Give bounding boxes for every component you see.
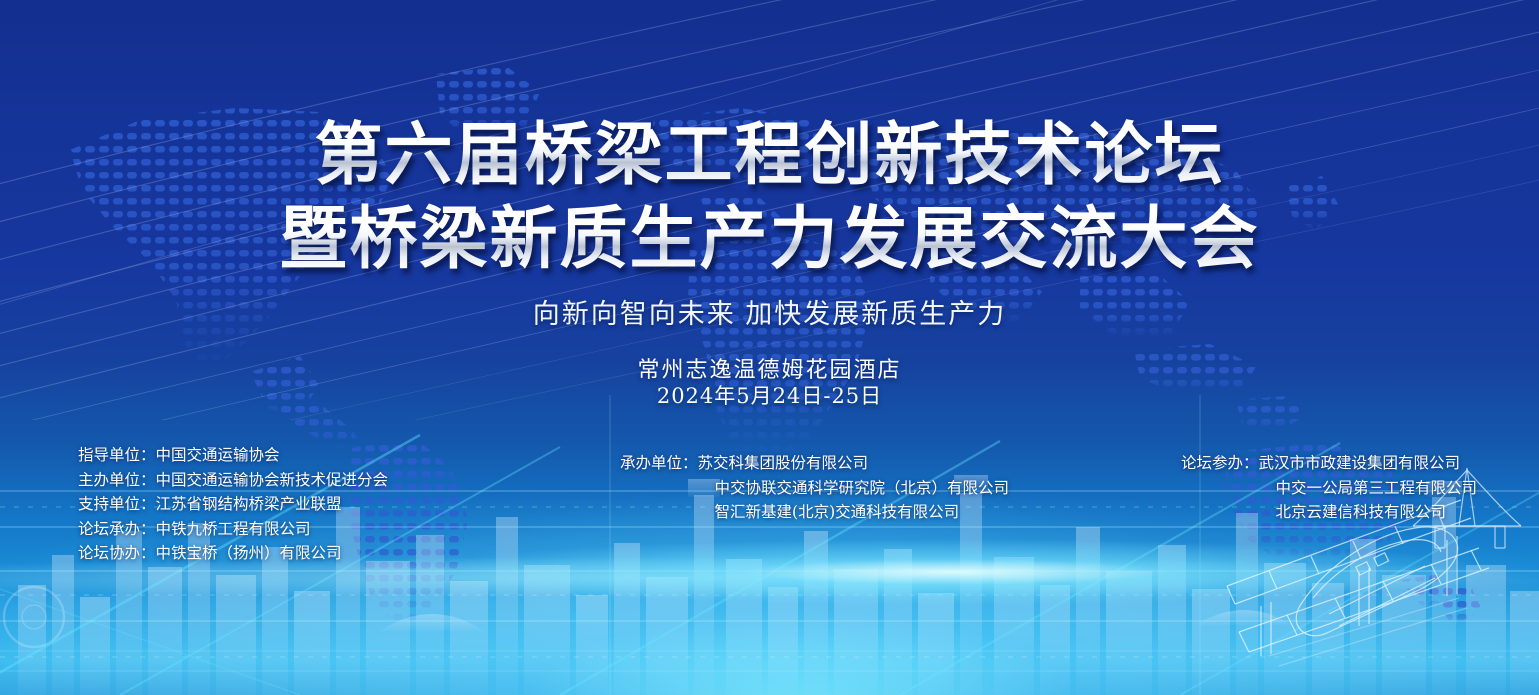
credit-row: 承办单位：苏交科集团股份有限公司 bbox=[620, 451, 1009, 476]
credit-value: 中交一公局第三工程有限公司 bbox=[1275, 479, 1477, 497]
credit-label: 承办单位： bbox=[620, 451, 698, 476]
credit-row: 支持单位：江苏省钢结构桥梁产业联盟 bbox=[78, 492, 388, 517]
credits-column-left: 指导单位：中国交通运输协会 主办单位：中国交通运输协会新技术促进分会 支持单位：… bbox=[78, 443, 388, 566]
credit-label: 论坛承办： bbox=[78, 517, 156, 542]
credits-column-right: 论坛参办：武汉市市政建设集团有限公司 中交一公局第三工程有限公司 北京云建信科技… bbox=[1181, 451, 1477, 525]
credit-label: 论坛协办： bbox=[78, 541, 156, 566]
credit-row: 北京云建信科技有限公司 bbox=[1181, 500, 1477, 525]
credit-value: 中交协联交通科学研究院（北京）有限公司 bbox=[715, 479, 1010, 497]
title-line-1: 第六届桥梁工程创新技术论坛 bbox=[0, 114, 1539, 198]
credit-value: 中铁九桥工程有限公司 bbox=[156, 520, 311, 538]
credit-row: 中交协联交通科学研究院（北京）有限公司 bbox=[620, 476, 1009, 501]
credit-row: 论坛协办：中铁宝桥（扬州）有限公司 bbox=[78, 541, 388, 566]
credit-row: 指导单位：中国交通运输协会 bbox=[78, 443, 388, 468]
credit-row: 主办单位：中国交通运输协会新技术促进分会 bbox=[78, 468, 388, 493]
credit-value: 智汇新基建(北京)交通科技有限公司 bbox=[715, 503, 960, 521]
credit-row: 论坛参办：武汉市市政建设集团有限公司 bbox=[1181, 451, 1477, 476]
credit-row: 论坛承办：中铁九桥工程有限公司 bbox=[78, 517, 388, 542]
credit-label: 指导单位： bbox=[78, 443, 156, 468]
credit-value: 武汉市市政建设集团有限公司 bbox=[1258, 454, 1460, 472]
date: 2024年5月24日-25日 bbox=[0, 380, 1539, 410]
credits: 指导单位：中国交通运输协会 主办单位：中国交通运输协会新技术促进分会 支持单位：… bbox=[0, 443, 1539, 563]
title-line-2: 暨桥梁新质生产力发展交流大会 bbox=[0, 198, 1539, 282]
credit-value: 中铁宝桥（扬州）有限公司 bbox=[156, 544, 342, 562]
credit-value: 江苏省钢结构桥梁产业联盟 bbox=[156, 495, 342, 513]
credit-row: 智汇新基建(北京)交通科技有限公司 bbox=[620, 500, 1009, 525]
slogan: 向新向智向未来 加快发展新质生产力 bbox=[0, 292, 1539, 331]
credit-value: 中国交通运输协会 bbox=[156, 446, 280, 464]
credit-label: 主办单位： bbox=[78, 468, 156, 493]
credit-value: 苏交科集团股份有限公司 bbox=[698, 454, 869, 472]
credit-value: 北京云建信科技有限公司 bbox=[1275, 503, 1446, 521]
credit-label: 支持单位： bbox=[78, 492, 156, 517]
credit-value: 中国交通运输协会新技术促进分会 bbox=[156, 471, 389, 489]
title-block: 第六届桥梁工程创新技术论坛 暨桥梁新质生产力发展交流大会 bbox=[0, 114, 1539, 282]
conference-banner: 第六届桥梁工程创新技术论坛 暨桥梁新质生产力发展交流大会 向新向智向未来 加快发… bbox=[0, 0, 1539, 695]
credits-column-middle: 承办单位：苏交科集团股份有限公司 中交协联交通科学研究院（北京）有限公司 智汇新… bbox=[620, 451, 1009, 525]
credit-label: 论坛参办： bbox=[1181, 451, 1259, 476]
credit-row: 中交一公局第三工程有限公司 bbox=[1181, 476, 1477, 501]
